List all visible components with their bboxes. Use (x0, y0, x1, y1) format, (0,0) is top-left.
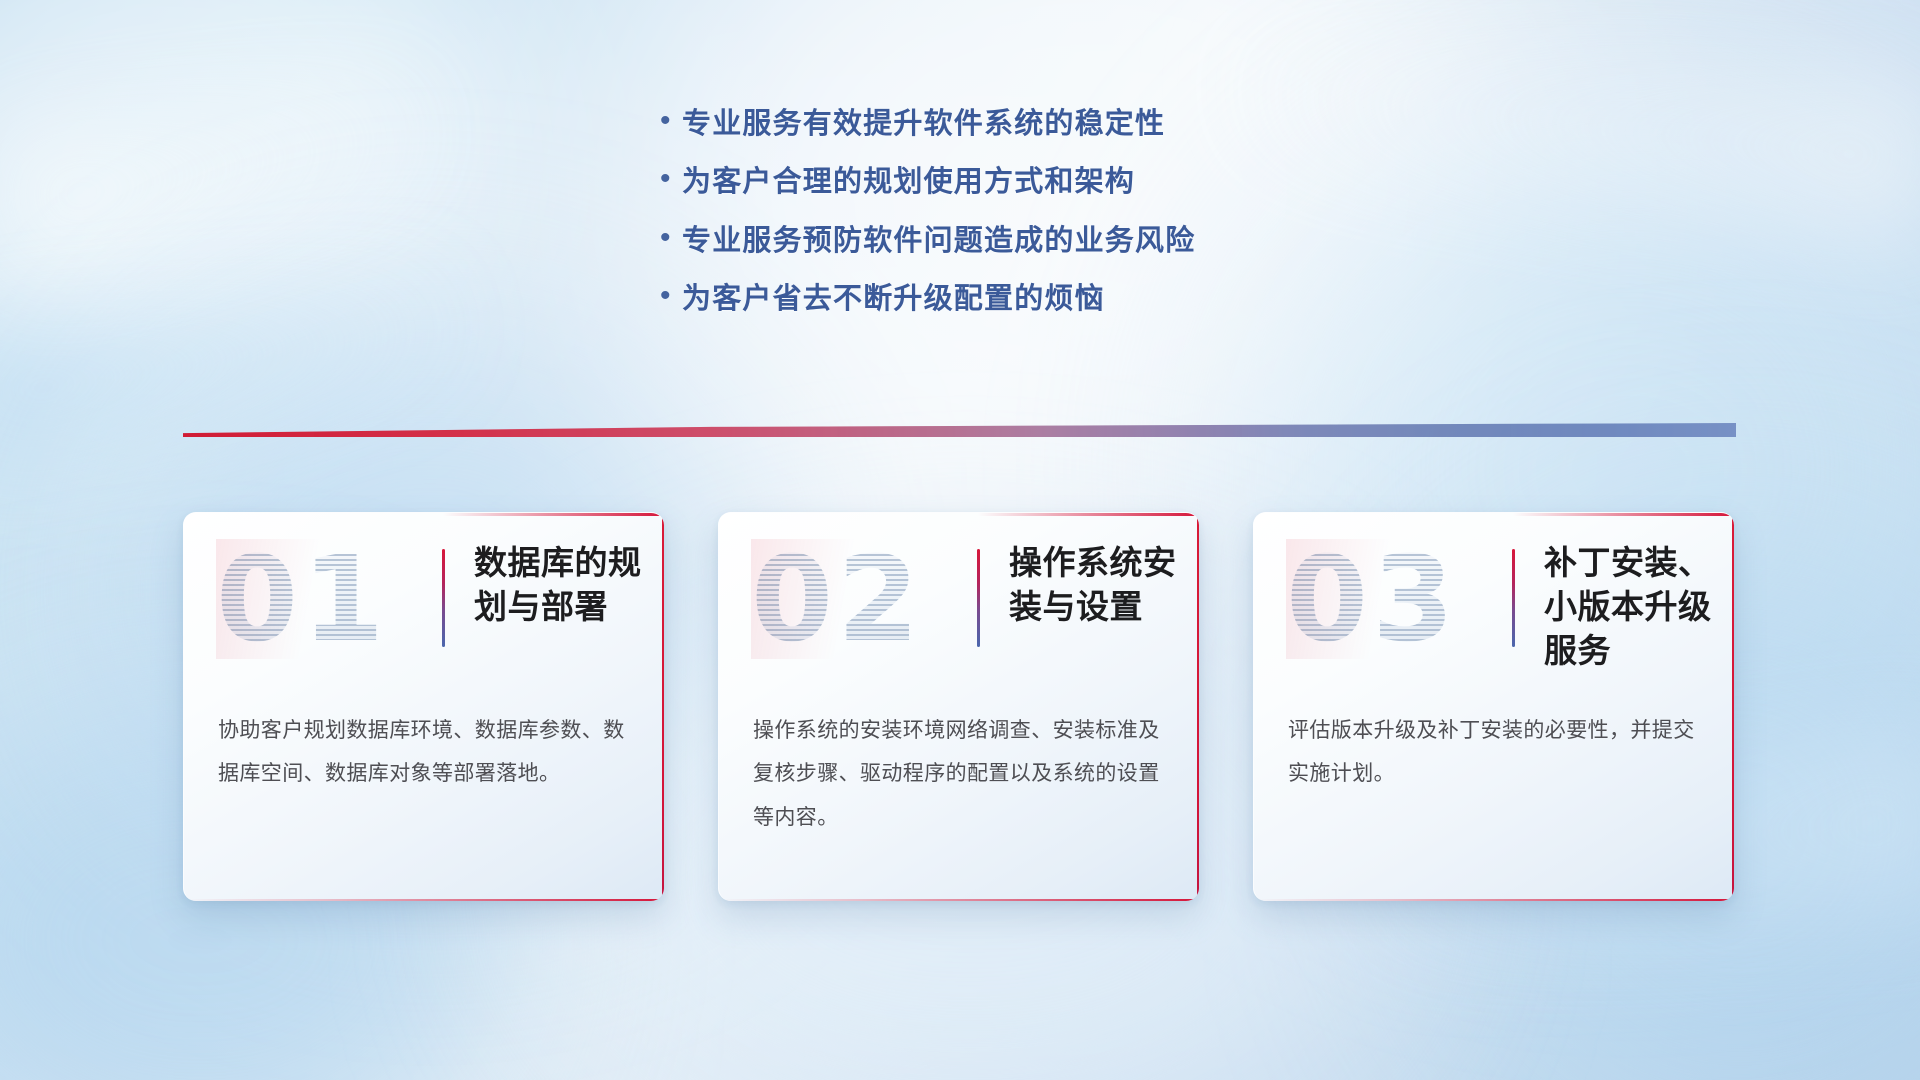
list-item: • 专业服务预防软件问题造成的业务风险 (660, 225, 1195, 258)
service-card[interactable]: 03 补丁安装、小版本升级服务 评估版本升级及补丁安装的必要性，并提交实施计划。 (1253, 512, 1734, 901)
card-body-text: 评估版本升级及补丁安装的必要性，并提交实施计划。 (1288, 709, 1702, 796)
bullet-text: 专业服务预防软件问题造成的业务风险 (682, 225, 1195, 258)
list-item: • 为客户省去不断升级配置的烦恼 (660, 283, 1195, 316)
card-title: 操作系统安装与设置 (1009, 541, 1185, 629)
service-card[interactable]: 02 操作系统安装与设置 操作系统的安装环境网络调查、安装标准及复核步骤、驱动程… (718, 512, 1199, 901)
service-card[interactable]: 01 数据库的规划与部署 协助客户规划数据库环境、数据库参数、数据库空间、数据库… (183, 512, 664, 901)
card-title: 补丁安装、小版本升级服务 (1544, 541, 1720, 674)
list-item: • 专业服务有效提升软件系统的稳定性 (660, 108, 1195, 141)
card-number-watermark: 03 (1286, 539, 1498, 659)
card-number-watermark: 02 (751, 539, 963, 659)
card-header: 01 数据库的规划与部署 (184, 513, 664, 681)
bullet-dot-icon: • (660, 281, 682, 311)
card-title: 数据库的规划与部署 (474, 541, 650, 629)
card-body-text: 协助客户规划数据库环境、数据库参数、数据库空间、数据库对象等部署落地。 (218, 709, 632, 796)
card-edge-bottom (1254, 899, 1734, 902)
card-title-separator (442, 549, 445, 647)
card-header: 02 操作系统安装与设置 (719, 513, 1199, 681)
benefits-bullet-list: • 专业服务有效提升软件系统的稳定性 • 为客户合理的规划使用方式和架构 • 专… (660, 108, 1195, 341)
bullet-dot-icon: • (660, 164, 682, 194)
card-title-separator (1512, 549, 1515, 647)
card-title-separator (977, 549, 980, 647)
section-divider (183, 423, 1736, 437)
card-edge-bottom (719, 899, 1199, 902)
bullet-text: 专业服务有效提升软件系统的稳定性 (682, 108, 1165, 141)
divider-sheen (183, 423, 1736, 437)
bullet-text: 为客户省去不断升级配置的烦恼 (682, 283, 1105, 316)
card-header: 03 补丁安装、小版本升级服务 (1254, 513, 1734, 681)
card-body-text: 操作系统的安装环境网络调查、安装标准及复核步骤、驱动程序的配置以及系统的设置等内… (753, 709, 1167, 839)
service-cards: 01 数据库的规划与部署 协助客户规划数据库环境、数据库参数、数据库空间、数据库… (183, 512, 1734, 901)
bullet-dot-icon: • (660, 223, 682, 253)
bullet-dot-icon: • (660, 106, 682, 136)
card-number-watermark: 01 (216, 539, 428, 659)
bullet-text: 为客户合理的规划使用方式和架构 (682, 166, 1135, 199)
card-edge-bottom (184, 899, 664, 902)
list-item: • 为客户合理的规划使用方式和架构 (660, 166, 1195, 199)
